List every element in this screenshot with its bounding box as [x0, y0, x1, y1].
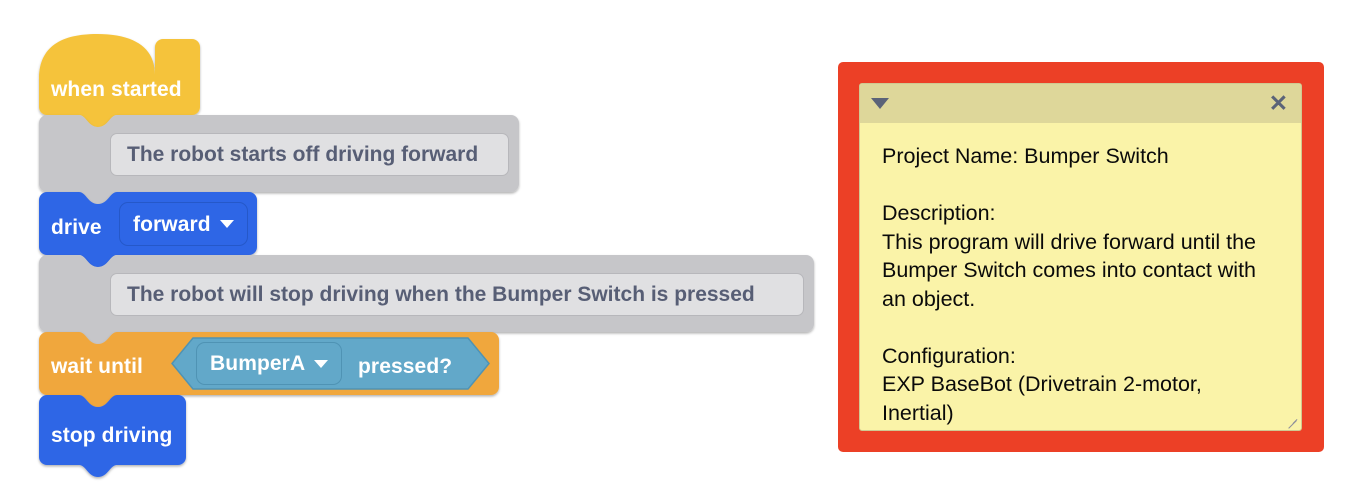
- block-label-drive: drive: [51, 217, 102, 238]
- project-note-inner: ✕ Project Name: Bumper Switch Descriptio…: [859, 83, 1302, 431]
- direction-dropdown[interactable]: forward: [119, 202, 248, 246]
- triangle-down-icon[interactable]: [871, 98, 889, 109]
- bumper-dropdown[interactable]: BumperA: [196, 342, 342, 385]
- project-note-panel[interactable]: ✕ Project Name: Bumper Switch Descriptio…: [838, 62, 1324, 452]
- direction-dropdown-value: forward: [133, 214, 211, 235]
- project-note-header[interactable]: ✕: [860, 84, 1301, 123]
- close-icon[interactable]: ✕: [1269, 92, 1288, 115]
- comment-text-1: The robot starts off driving forward: [127, 144, 478, 165]
- block-label-when-started: when started: [51, 79, 182, 100]
- workspace-canvas[interactable]: when started The robot starts off drivin…: [0, 0, 1352, 502]
- resize-grip-icon[interactable]: [1286, 415, 1298, 427]
- comment-text-2: The robot will stop driving when the Bum…: [127, 284, 755, 305]
- project-note-text[interactable]: Project Name: Bumper Switch Description:…: [860, 123, 1301, 430]
- chevron-down-icon: [314, 360, 328, 368]
- comment-bubble-1[interactable]: The robot starts off driving forward: [110, 133, 509, 176]
- chevron-down-icon: [220, 220, 234, 228]
- bumper-dropdown-value: BumperA: [210, 353, 305, 374]
- block-label-stop-driving: stop driving: [51, 425, 172, 446]
- comment-bubble-2[interactable]: The robot will stop driving when the Bum…: [110, 273, 804, 316]
- boolean-suffix-label: pressed?: [358, 356, 452, 377]
- block-label-wait-until: wait until: [51, 356, 143, 377]
